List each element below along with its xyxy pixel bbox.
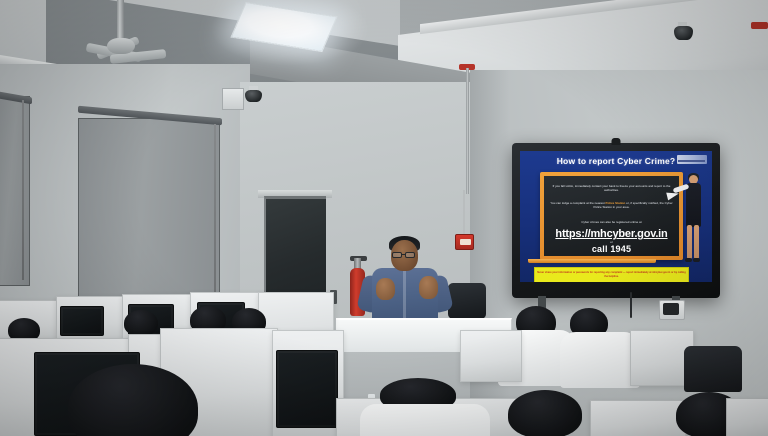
alarm-conduit xyxy=(463,190,465,236)
cartoon-teacher-figure xyxy=(683,175,705,279)
cartoon-leg xyxy=(694,225,699,259)
blackboard-line-1: If you fall victim, immediately contact … xyxy=(550,184,673,192)
ceiling-fan-rod xyxy=(117,0,124,42)
presenter-hand xyxy=(376,278,395,300)
presentation-slide: How to report Cyber Crime? If you fall v… xyxy=(520,151,712,282)
tv-power-cable xyxy=(630,292,632,318)
helpline-number: call 1945 xyxy=(544,244,679,254)
window-roller-blind xyxy=(78,118,220,310)
tv-screen: How to report Cyber Crime? If you fall v… xyxy=(520,151,712,282)
slide-warning-banner: Never share your information or password… xyxy=(534,267,689,282)
desk-partition xyxy=(726,398,768,436)
wall-conduit xyxy=(466,68,469,194)
eyeglasses-icon xyxy=(392,252,402,258)
eyeglasses-bridge xyxy=(402,254,406,255)
power-plug[interactable] xyxy=(663,303,679,315)
wall-mounted-television[interactable]: How to report Cyber Crime? If you fall v… xyxy=(512,143,720,298)
desk-partition xyxy=(460,330,522,382)
classroom-photo: How to report Cyber Crime? If you fall v… xyxy=(0,0,768,436)
presenter-hand xyxy=(419,276,438,299)
wall-junction-box xyxy=(222,88,244,110)
student-head xyxy=(508,390,582,436)
desk-partition xyxy=(590,400,686,436)
cybercrime-url[interactable]: https://mhcyber.gov.in xyxy=(544,228,679,240)
tv-webcam xyxy=(612,138,621,145)
fire-alarm-call-point[interactable] xyxy=(455,234,474,250)
office-chair[interactable] xyxy=(684,346,742,392)
blind-cord xyxy=(22,100,24,280)
black-bag xyxy=(448,283,486,319)
window-roller-blind xyxy=(0,96,30,286)
cartoon-leg xyxy=(687,225,692,259)
desktop-monitor xyxy=(276,350,338,428)
desktop-monitor xyxy=(60,306,104,336)
cctv-dome-camera xyxy=(245,90,262,102)
cctv-dome-camera xyxy=(674,26,693,40)
student-torso xyxy=(360,404,490,436)
student-head xyxy=(124,310,158,336)
slide-blackboard: If you fall victim, immediately contact … xyxy=(540,172,683,260)
cartoon-shoe xyxy=(685,258,692,262)
organisation-logo-icon xyxy=(677,155,707,164)
eyeglasses-icon xyxy=(405,252,415,258)
slide-warning-text: Never share your information or password… xyxy=(536,269,687,281)
ceiling-fan-hub xyxy=(107,38,135,54)
blind-cord xyxy=(214,124,216,302)
student-torso xyxy=(560,332,640,388)
blackboard-line-3: Cyber crimes can also be registered onli… xyxy=(550,220,673,224)
cartoon-body xyxy=(686,183,701,227)
blackboard-surface: If you fall victim, immediately contact … xyxy=(544,176,679,256)
cartoon-shoe xyxy=(693,258,700,262)
blackboard-tray xyxy=(528,259,656,263)
fire-sprinkler-pipe xyxy=(751,22,768,29)
blackboard-line-2: You can lodge a complaint at the nearest… xyxy=(550,201,673,209)
shirt-placket xyxy=(403,270,406,324)
